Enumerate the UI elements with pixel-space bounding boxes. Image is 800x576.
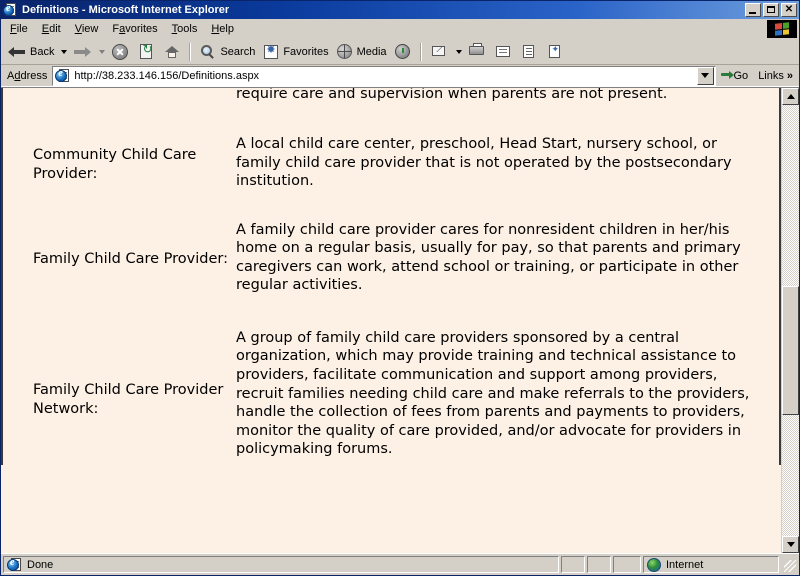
print-button[interactable]	[464, 41, 490, 63]
forward-button[interactable]	[69, 41, 95, 63]
discuss-icon	[519, 42, 539, 62]
definition-description: A family child care provider cares for n…	[234, 197, 780, 301]
table-row: Family Child Care Provider: A family chi…	[2, 197, 780, 301]
home-button[interactable]	[159, 41, 185, 63]
chevron-right-icon: »	[787, 70, 793, 82]
search-icon	[198, 42, 218, 62]
go-button[interactable]: Go	[716, 68, 755, 84]
status-panel-2	[587, 556, 611, 573]
research-button[interactable]	[542, 41, 568, 63]
scrollbar-track[interactable]	[782, 105, 799, 536]
navigation-toolbar: Back Search Favorites Media	[1, 39, 799, 65]
stop-icon	[110, 42, 130, 62]
address-url-text: http://38.233.146.156/Definitions.aspx	[74, 70, 696, 82]
menu-item-help[interactable]: Help	[204, 21, 241, 37]
back-dropdown-icon[interactable]	[61, 50, 67, 54]
address-dropdown-button[interactable]	[697, 67, 714, 85]
favorites-star-icon	[261, 42, 281, 62]
ie-document-icon	[7, 557, 23, 573]
favorites-button[interactable]: Favorites	[258, 41, 331, 63]
forward-dropdown-icon[interactable]	[99, 50, 105, 54]
definition-term: Community Child Care Provider:	[2, 109, 234, 197]
definition-description: A group of family child care providers s…	[234, 301, 780, 465]
web-page-body: Children: include children of staff or f…	[1, 88, 781, 553]
definition-term: Family Child Care Provider:	[2, 197, 234, 301]
links-label: Links	[758, 70, 784, 82]
title-bar: Definitions - Microsoft Internet Explore…	[1, 1, 799, 19]
menu-item-favorites[interactable]: Favorites	[105, 21, 164, 37]
home-icon	[162, 42, 182, 62]
menu-bar: File Edit View Favorites Tools Help	[1, 19, 799, 39]
definition-description: include children of staff or faculty) wh…	[234, 88, 780, 109]
back-button[interactable]: Back	[5, 41, 57, 63]
ie-document-icon	[3, 2, 19, 18]
window-controls: ✕	[745, 3, 797, 17]
definitions-table: Children: include children of staff or f…	[1, 88, 781, 465]
discuss-button[interactable]	[516, 41, 542, 63]
mail-dropdown-icon[interactable]	[456, 50, 462, 54]
printer-icon	[467, 42, 487, 62]
history-clock-icon	[393, 42, 413, 62]
close-button[interactable]: ✕	[781, 3, 797, 17]
restore-button[interactable]	[763, 3, 779, 17]
edit-page-icon	[493, 42, 513, 62]
table-row: Community Child Care Provider: A local c…	[2, 109, 780, 197]
resize-grip-icon[interactable]	[781, 556, 797, 573]
status-message-panel: Done	[3, 556, 559, 573]
refresh-icon	[136, 42, 156, 62]
security-zone-text: Internet	[666, 559, 703, 571]
status-panel-3	[613, 556, 641, 573]
edit-button[interactable]	[490, 41, 516, 63]
ie-document-icon	[55, 68, 71, 84]
go-button-label: Go	[734, 70, 749, 82]
go-arrow-icon	[718, 68, 734, 84]
menu-item-tools[interactable]: Tools	[165, 21, 205, 37]
links-button[interactable]: Links »	[754, 70, 797, 82]
toolbar-separator	[420, 43, 422, 61]
address-label: Address	[3, 70, 52, 82]
menu-item-edit[interactable]: Edit	[35, 21, 68, 37]
ie-browser-window: Definitions - Microsoft Internet Explore…	[0, 0, 800, 576]
research-icon	[545, 42, 565, 62]
security-zone-panel[interactable]: Internet	[643, 556, 779, 573]
menu-item-file[interactable]: File	[3, 21, 35, 37]
table-row: Children: include children of staff or f…	[2, 88, 780, 109]
menu-item-view[interactable]: View	[68, 21, 106, 37]
table-row: Family Child Care Provider Network: A gr…	[2, 301, 780, 465]
stop-button[interactable]	[107, 41, 133, 63]
definition-description: A local child care center, preschool, He…	[234, 109, 780, 197]
scroll-up-arrow-icon[interactable]	[782, 88, 799, 105]
toolbar-separator	[189, 43, 191, 61]
vertical-scrollbar[interactable]	[781, 88, 799, 553]
internet-zone-globe-icon	[647, 558, 661, 572]
browser-content-area: Children: include children of staff or f…	[1, 87, 799, 553]
windows-flag-logo	[767, 20, 797, 38]
forward-arrow-icon	[72, 42, 92, 62]
window-title: Definitions - Microsoft Internet Explore…	[22, 4, 745, 16]
scroll-down-arrow-icon[interactable]	[782, 536, 799, 553]
back-arrow-icon	[8, 42, 28, 62]
mail-button[interactable]	[426, 41, 452, 63]
media-globe-icon	[335, 42, 355, 62]
address-input[interactable]: http://38.233.146.156/Definitions.aspx	[52, 66, 715, 86]
minimize-button[interactable]	[745, 3, 761, 17]
mail-icon	[429, 42, 449, 62]
status-text: Done	[27, 559, 53, 571]
media-button[interactable]: Media	[332, 41, 390, 63]
definition-term: Children:	[2, 88, 234, 109]
status-bar: Done Internet	[1, 553, 799, 575]
definition-term: Family Child Care Provider Network:	[2, 301, 234, 465]
status-panel-1	[561, 556, 585, 573]
address-bar: Address http://38.233.146.156/Definition…	[1, 65, 799, 87]
refresh-button[interactable]	[133, 41, 159, 63]
scrollbar-thumb[interactable]	[782, 286, 799, 415]
search-button[interactable]: Search	[195, 41, 258, 63]
history-button[interactable]	[390, 41, 416, 63]
